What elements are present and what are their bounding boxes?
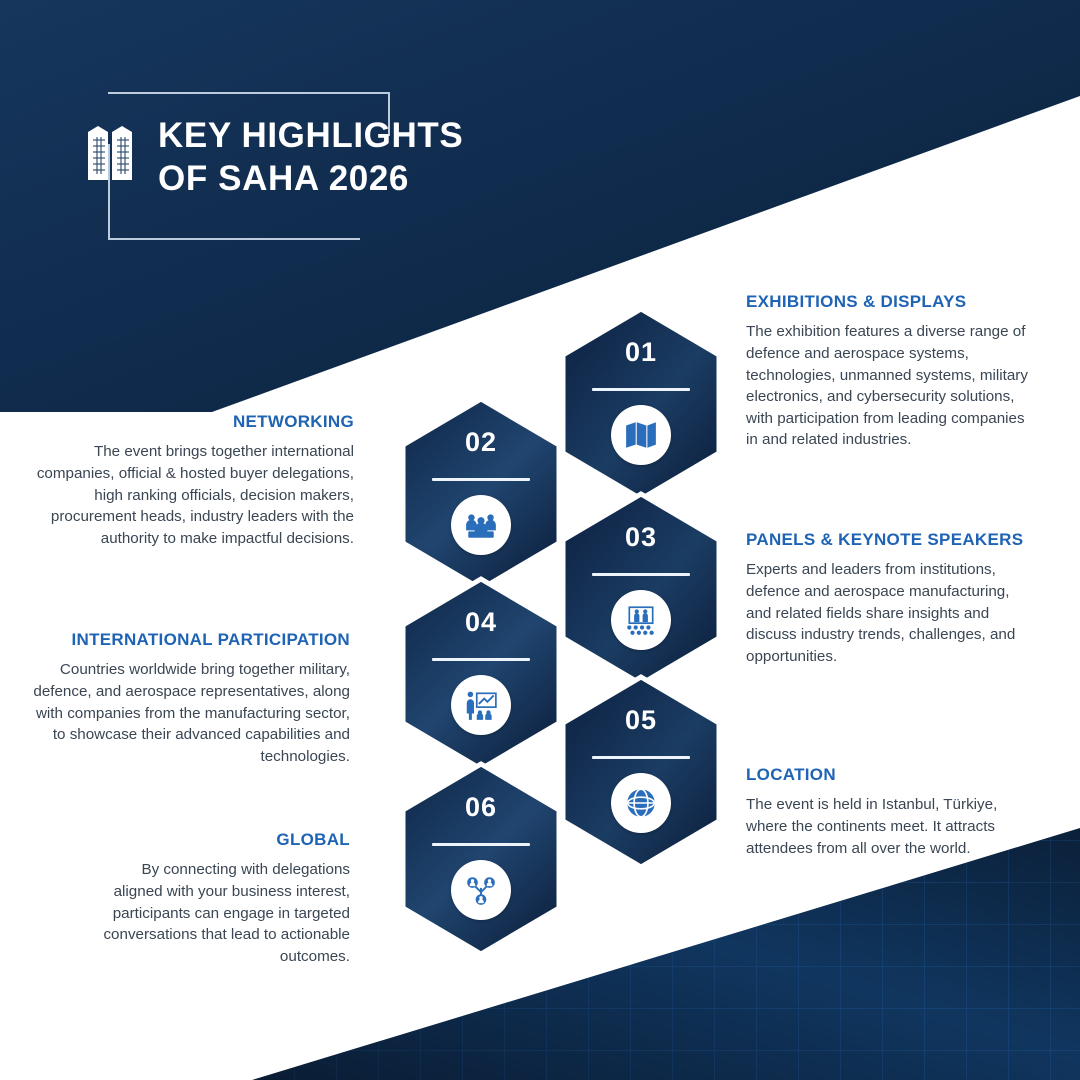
people-group-icon (451, 495, 511, 555)
text-block-international: INTERNATIONAL PARTICIPATION Countries wo… (30, 630, 350, 767)
divider (592, 388, 690, 391)
block-title: EXHIBITIONS & DISPLAYS (746, 292, 1032, 312)
text-block-networking: NETWORKING The event brings together int… (30, 412, 354, 549)
page-title: KEY HIGHLIGHTS OF SAHA 2026 (158, 114, 463, 201)
hexagon-number: 06 (465, 794, 497, 821)
text-block-location: LOCATION The event is held in Istanbul, … (746, 765, 1026, 859)
block-title: PANELS & KEYNOTE SPEAKERS (746, 530, 1036, 550)
divider (592, 573, 690, 576)
hexagon-number: 05 (625, 707, 657, 734)
block-body: Experts and leaders from institutions, d… (746, 559, 1036, 667)
panel-audience-icon (611, 590, 671, 650)
saha-building-logo-icon (86, 122, 144, 184)
hexagon-03[interactable]: 03 (555, 490, 727, 688)
block-title: GLOBAL (100, 830, 350, 850)
presenter-board-icon (451, 675, 511, 735)
block-body: By connecting with delegations aligned w… (100, 859, 350, 967)
text-block-exhibitions: EXHIBITIONS & DISPLAYS The exhibition fe… (746, 292, 1032, 451)
block-title: NETWORKING (30, 412, 354, 432)
divider (432, 843, 530, 846)
hexagon-number: 01 (625, 339, 657, 366)
divider (432, 658, 530, 661)
hexagon-number: 02 (465, 429, 497, 456)
network-people-icon (451, 860, 511, 920)
hexagon-number: 03 (625, 524, 657, 551)
hexagon-01[interactable]: 01 (555, 305, 727, 503)
text-block-panels: PANELS & KEYNOTE SPEAKERS Experts and le… (746, 530, 1036, 667)
block-body: The event brings together international … (30, 441, 354, 549)
hexagon-04[interactable]: 04 (395, 575, 567, 773)
text-block-global: GLOBAL By connecting with delegations al… (100, 830, 350, 967)
block-title: INTERNATIONAL PARTICIPATION (30, 630, 350, 650)
hexagon-number: 04 (465, 609, 497, 636)
hexagon-02[interactable]: 02 (395, 395, 567, 593)
block-body: Countries worldwide bring together milit… (30, 659, 350, 767)
globe-icon (611, 773, 671, 833)
folded-map-icon (611, 405, 671, 465)
divider (432, 478, 530, 481)
infographic-canvas: KEY HIGHLIGHTS OF SAHA 2026 01 02 (0, 0, 1080, 1080)
hexagon-06[interactable]: 06 (395, 760, 567, 958)
block-body: The exhibition features a diverse range … (746, 321, 1032, 450)
hexagon-05[interactable]: 05 (555, 673, 727, 871)
hexagon-cluster: 01 02 (355, 305, 745, 955)
divider (592, 756, 690, 759)
block-body: The event is held in Istanbul, Türkiye, … (746, 794, 1026, 859)
block-title: LOCATION (746, 765, 1026, 785)
